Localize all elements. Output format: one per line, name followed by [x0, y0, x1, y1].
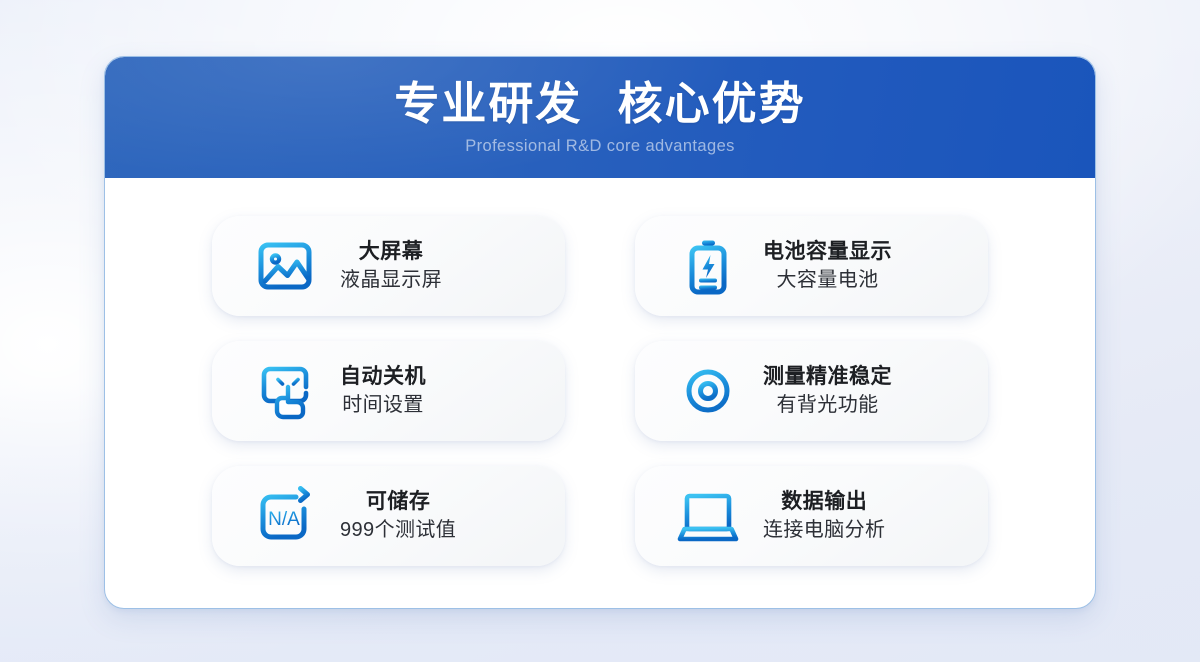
card-subtitle: 液晶显示屏 [340, 267, 442, 294]
laptop-icon [677, 485, 739, 547]
card-subtitle: 999个测试值 [340, 517, 456, 544]
na-icon-label: N/A [268, 509, 300, 530]
feature-card-auto-shutdown[interactable]: 自动关机 时间设置 [212, 341, 565, 441]
feature-card-large-screen[interactable]: 大屏幕 液晶显示屏 [212, 216, 565, 316]
feature-card-grid: 大屏幕 液晶显示屏 [105, 216, 1095, 566]
card-text: 大屏幕 液晶显示屏 [340, 238, 442, 294]
card-text: 测量精准稳定 有背光功能 [763, 363, 892, 419]
card-subtitle: 时间设置 [342, 392, 424, 419]
card-title: 数据输出 [781, 488, 867, 515]
card-text: 可储存 999个测试值 [340, 488, 456, 544]
battery-charging-icon [677, 235, 739, 297]
card-title: 可储存 [366, 488, 431, 515]
card-text: 电池容量显示 大容量电池 [763, 238, 892, 294]
card-subtitle: 大容量电池 [777, 267, 879, 294]
card-title: 自动关机 [340, 363, 426, 390]
panel-header: 专业研发 核心优势 Professional R&D core advantag… [105, 57, 1095, 178]
card-subtitle: 有背光功能 [777, 392, 879, 419]
feature-card-storage[interactable]: N/A 可储存 999个测试值 [212, 466, 565, 566]
touch-tap-icon [254, 360, 316, 422]
page-title: 专业研发 核心优势 [394, 79, 805, 129]
card-subtitle: 连接电脑分析 [763, 517, 885, 544]
panel-body: 大屏幕 液晶显示屏 [105, 178, 1095, 609]
card-title: 大屏幕 [359, 238, 424, 265]
advantages-panel: 专业研发 核心优势 Professional R&D core advantag… [104, 56, 1096, 609]
feature-card-data-output[interactable]: 数据输出 连接电脑分析 [635, 466, 988, 566]
card-text: 自动关机 时间设置 [340, 363, 426, 419]
page-subtitle: Professional R&D core advantages [465, 137, 735, 156]
card-text: 数据输出 连接电脑分析 [763, 488, 885, 544]
image-icon [254, 235, 316, 297]
target-icon [677, 360, 739, 422]
storage-na-arrow-icon: N/A [254, 485, 316, 547]
feature-card-battery-capacity[interactable]: 电池容量显示 大容量电池 [635, 216, 988, 316]
card-title: 电池容量显示 [763, 238, 892, 265]
card-title: 测量精准稳定 [763, 363, 892, 390]
feature-card-accurate-measurement[interactable]: 测量精准稳定 有背光功能 [635, 341, 988, 441]
